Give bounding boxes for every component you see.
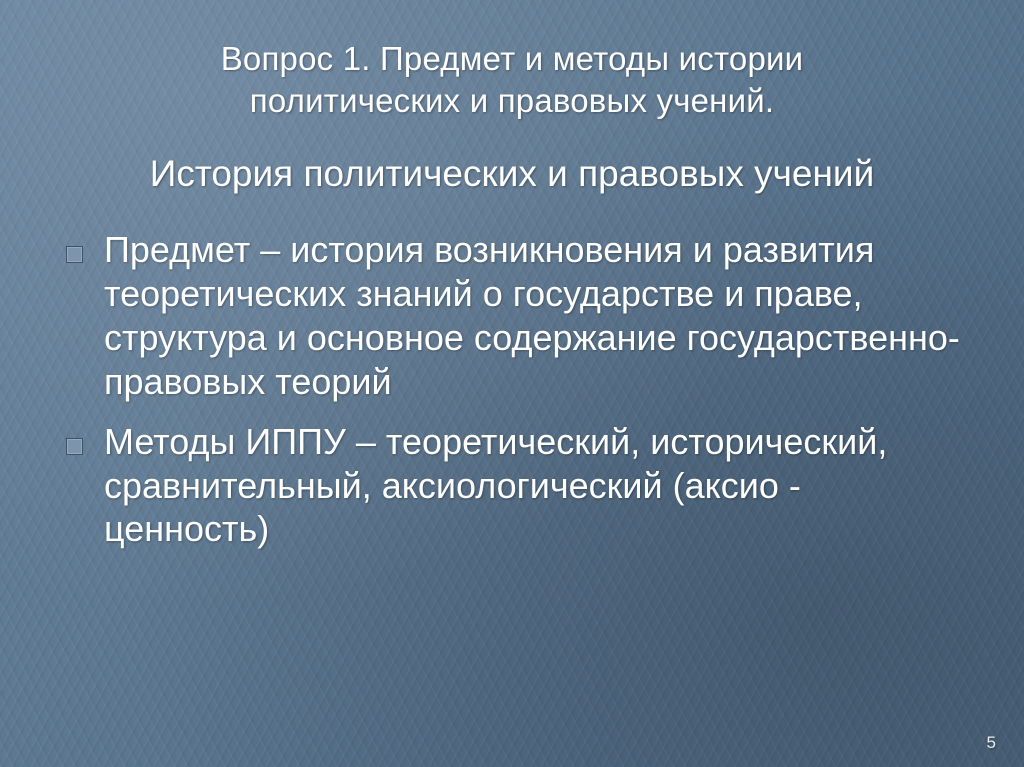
list-item: Методы ИППУ – теоретический, исторически… — [52, 420, 972, 552]
list-item: Предмет – история возникновения и развит… — [52, 228, 972, 404]
slide-title-line-1: Вопрос 1. Предмет и методы истории — [60, 38, 964, 80]
slide-title-line-2: политических и правовых учений. — [60, 80, 964, 122]
slide: Вопрос 1. Предмет и методы истории полит… — [0, 0, 1024, 767]
slide-subtitle: История политических и правовых учений — [40, 152, 984, 196]
list-item-text: Предмет – история возникновения и развит… — [104, 228, 972, 404]
page-number: 5 — [987, 733, 996, 753]
slide-title: Вопрос 1. Предмет и методы истории полит… — [60, 38, 964, 122]
list-item-text: Методы ИППУ – теоретический, исторически… — [104, 420, 972, 552]
square-bullet-icon — [66, 438, 83, 455]
square-bullet-icon — [66, 246, 83, 263]
bullet-list: Предмет – история возникновения и развит… — [52, 228, 972, 567]
